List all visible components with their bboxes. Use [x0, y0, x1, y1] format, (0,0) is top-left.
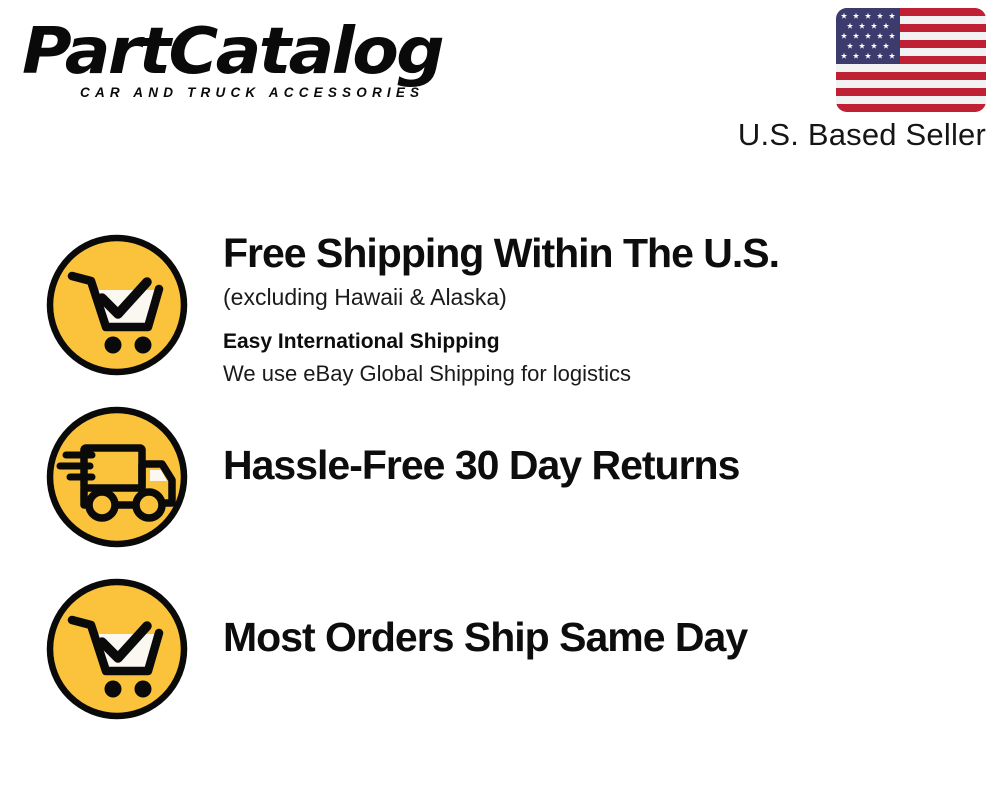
- delivery-truck-icon: [44, 404, 190, 550]
- brand-logo[interactable]: PartCatalog CAR AND TRUCK ACCESSORIES: [22, 22, 492, 100]
- feature-subtitle-bold: Easy International Shipping: [223, 329, 1000, 354]
- brand-name: PartCatalog: [22, 22, 520, 83]
- feature-title: Free Shipping Within The U.S.: [223, 233, 1000, 275]
- shopping-cart-check-icon: [44, 232, 190, 378]
- feature-row: Most Orders Ship Same Day: [0, 576, 1000, 722]
- feature-text-block: Most Orders Ship Same Day: [223, 576, 1000, 659]
- shopping-cart-check-icon: [44, 576, 190, 722]
- feature-subtitle: (excluding Hawaii & Alaska): [223, 283, 1000, 312]
- feature-text-block: Free Shipping Within The U.S. (excluding…: [223, 232, 1000, 387]
- feature-title: Most Orders Ship Same Day: [223, 577, 1000, 659]
- feature-title: Hassle-Free 30 Day Returns: [223, 405, 1000, 487]
- feature-row: Free Shipping Within The U.S. (excluding…: [0, 232, 1000, 387]
- feature-subtitle-detail: We use eBay Global Shipping for logistic…: [223, 360, 1000, 388]
- feature-text-block: Hassle-Free 30 Day Returns: [223, 404, 1000, 487]
- us-based-seller-badge: U.S. Based Seller: [706, 8, 986, 150]
- feature-row: Hassle-Free 30 Day Returns: [0, 404, 1000, 550]
- page-header: PartCatalog CAR AND TRUCK ACCESSORIES: [0, 0, 1000, 175]
- us-based-seller-label: U.S. Based Seller: [706, 119, 986, 150]
- us-flag-icon: [836, 8, 986, 112]
